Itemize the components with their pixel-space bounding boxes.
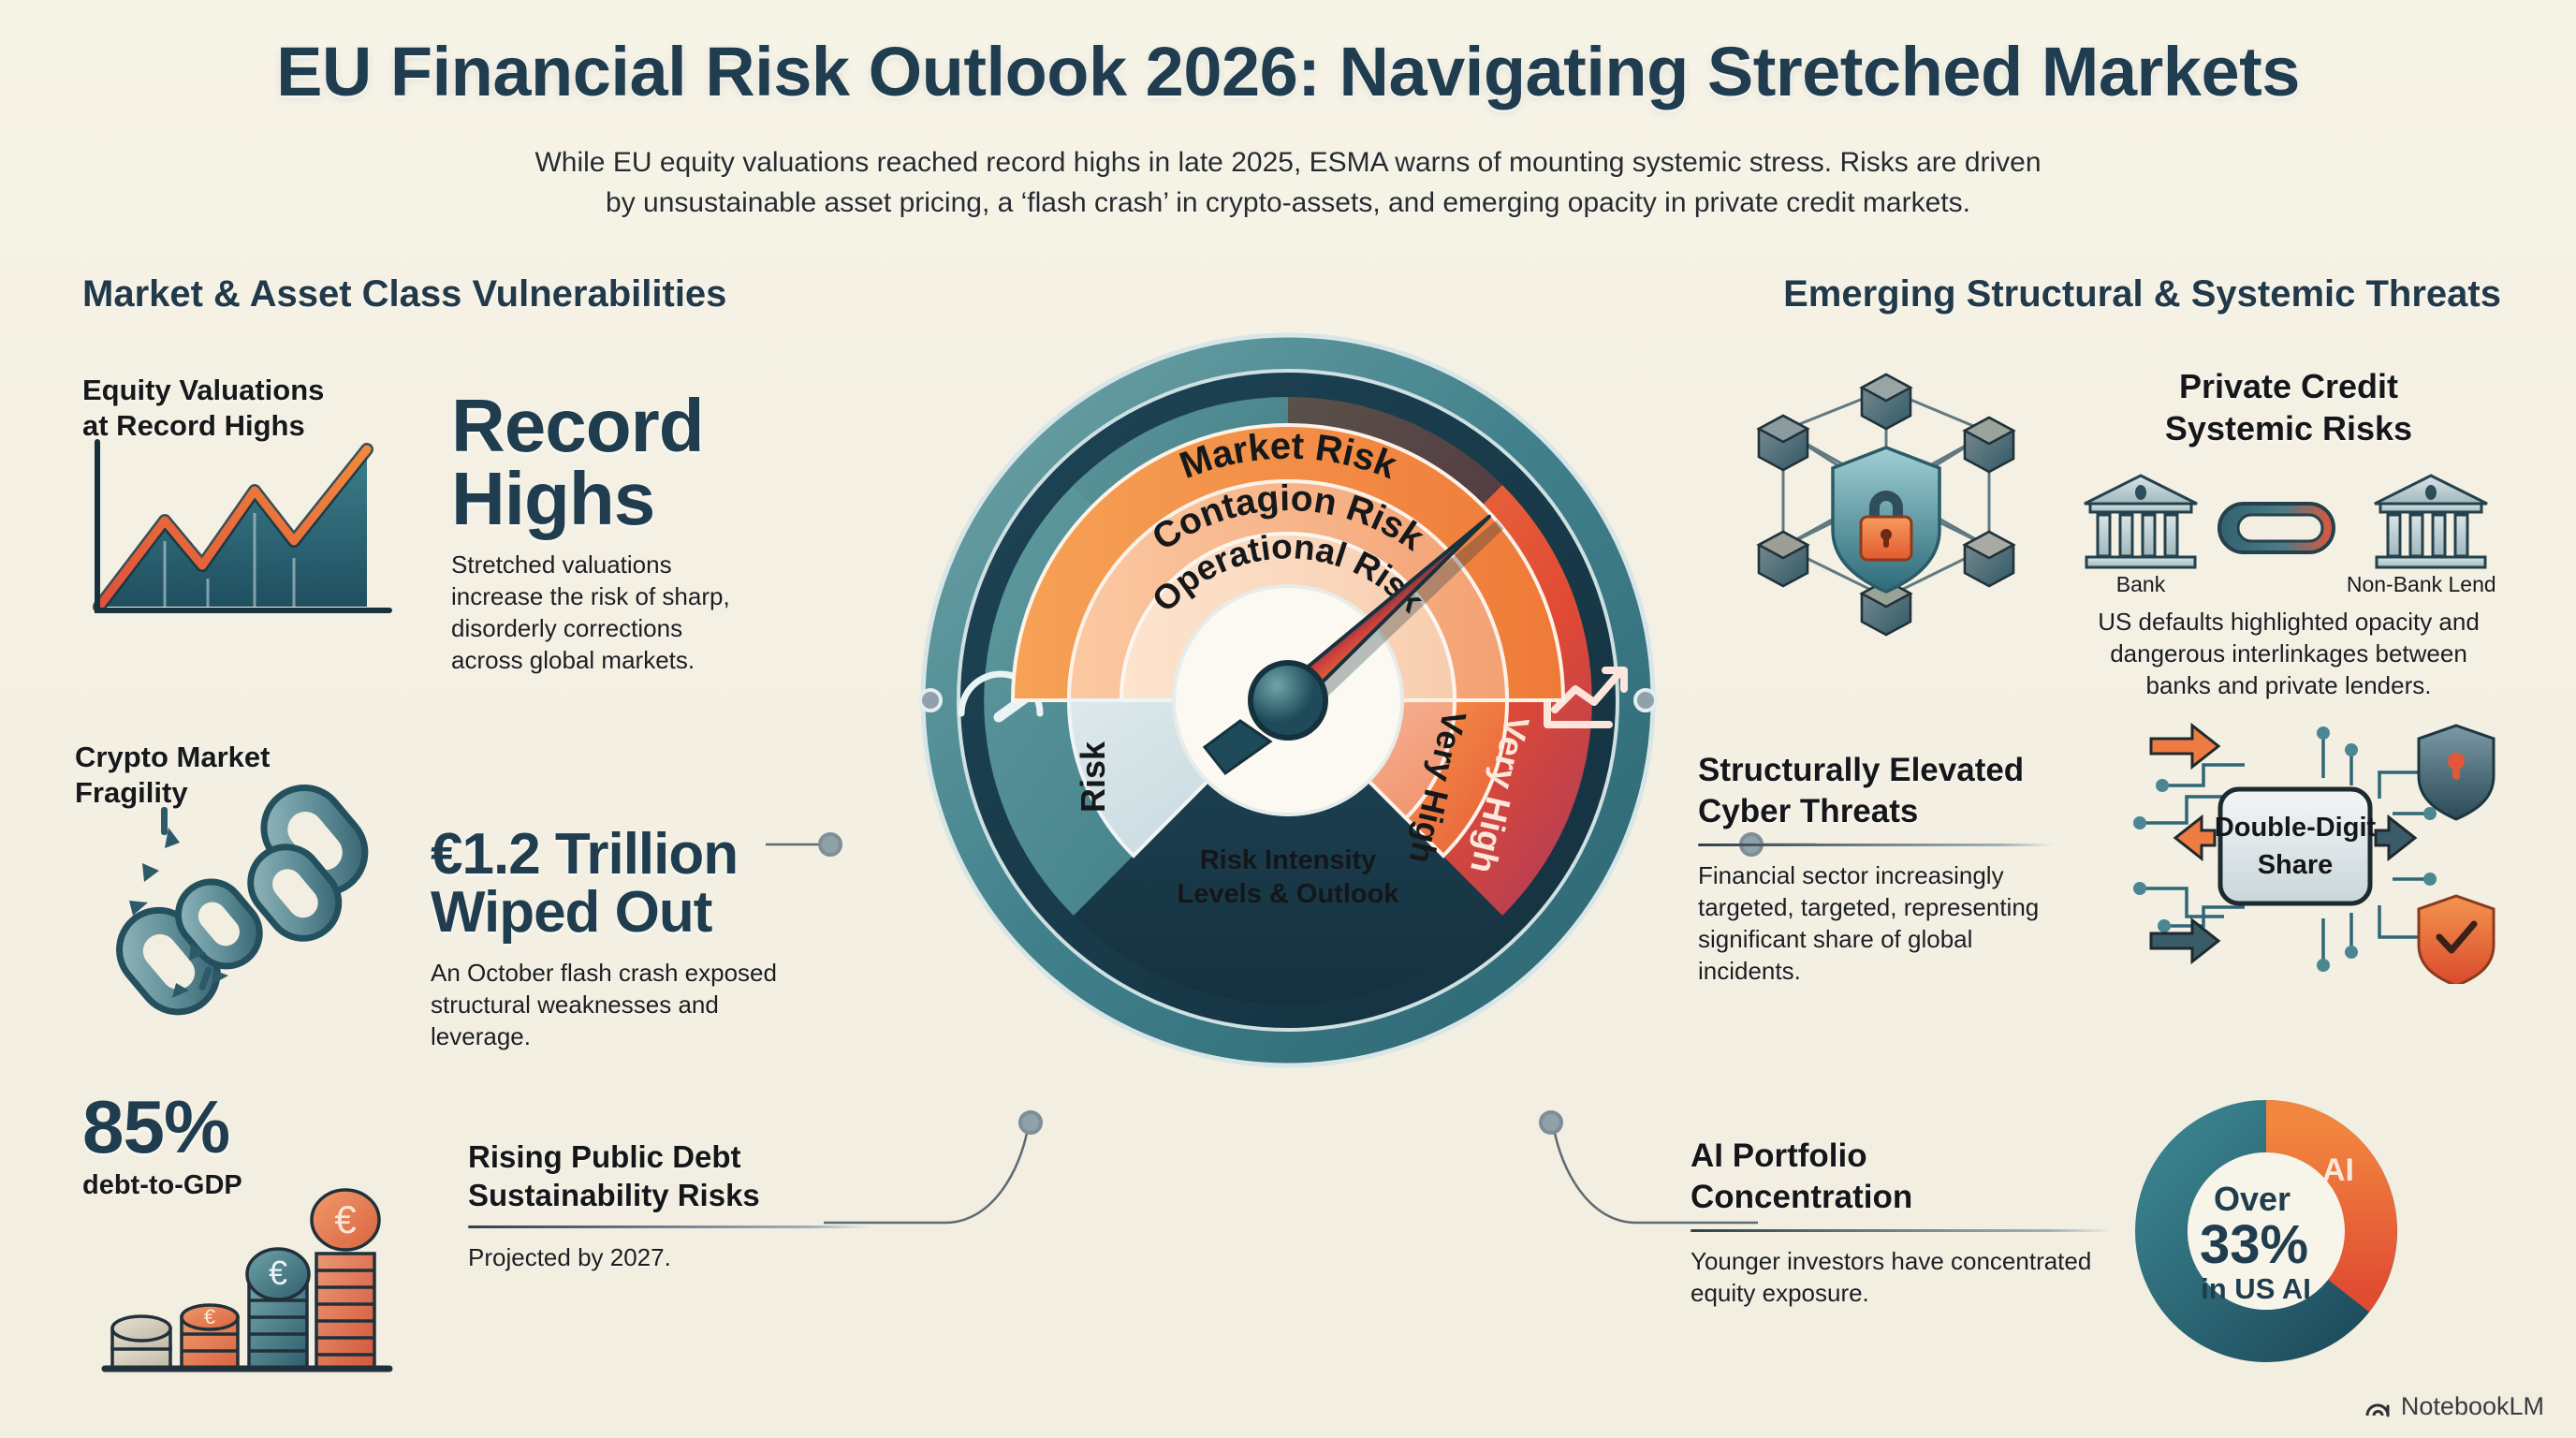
risk-gauge: Market Risk Contagion Risk Operational R… bbox=[800, 326, 1778, 1075]
svg-text:€: € bbox=[334, 1197, 356, 1241]
gauge-center-line-2: Levels & Outlook bbox=[1178, 879, 1400, 909]
ai-donut-sublabel: in US AI bbox=[2201, 1272, 2311, 1305]
block-ai-concentration: AI Portfolio Concentration Younger inves… bbox=[1690, 1109, 2514, 1372]
bank-to-nonbank-link-icon: Bank Non-Bank Lender bbox=[2083, 459, 2495, 599]
equity-stat-line-2: Highs bbox=[451, 462, 760, 536]
non-bank-lender-label: Non-Bank Lender bbox=[2347, 572, 2495, 596]
watermark-label: NotebookLM bbox=[2401, 1392, 2544, 1421]
private-credit-title-line-2: Systemic Risks bbox=[2078, 407, 2499, 449]
ai-title-line-2: Concentration bbox=[1690, 1177, 2112, 1218]
ai-blurb: Younger investors have concentrated equi… bbox=[1690, 1245, 2112, 1309]
crypto-stat-line-1: €1.2 Trillion bbox=[431, 826, 777, 884]
subtitle-line-2: by unsustainable asset pricing, a ‘flash… bbox=[305, 183, 2271, 223]
watermark: NotebookLM bbox=[2364, 1392, 2544, 1421]
private-credit-title-line-1: Private Credit bbox=[2078, 365, 2499, 407]
equity-blurb: Stretched valuations increase the risk o… bbox=[451, 549, 760, 676]
svg-text:€: € bbox=[269, 1254, 287, 1292]
ai-divider bbox=[1690, 1229, 2112, 1232]
block-private-credit: Private Credit Systemic Risks bbox=[1694, 365, 2509, 701]
debt-stat: 85% bbox=[82, 1091, 242, 1164]
block-equity-valuations: Equity Valuations at Record Highs bbox=[82, 373, 775, 676]
notebooklm-icon bbox=[2364, 1393, 2392, 1421]
block-cyber-threats: Structurally Elevated Cyber Threats Fina… bbox=[1698, 744, 2522, 987]
crypto-stat: €1.2 Trillion Wiped Out bbox=[431, 826, 777, 942]
svg-text:€: € bbox=[204, 1305, 215, 1328]
ai-segment-label: AI bbox=[2322, 1152, 2354, 1188]
donut-chart-icon: Over 33% in US AI AI bbox=[2112, 1091, 2421, 1372]
debt-title-line-2: Sustainability Risks bbox=[468, 1176, 871, 1214]
private-credit-title: Private Credit Systemic Risks bbox=[2078, 365, 2499, 449]
ai-donut-over-label: Over bbox=[2214, 1180, 2291, 1218]
debt-divider bbox=[468, 1225, 871, 1228]
debt-title: Rising Public Debt Sustainability Risks bbox=[468, 1137, 871, 1214]
debt-blurb: Projected by 2027. bbox=[468, 1241, 871, 1273]
infographic-canvas: EU Financial Risk Outlook 2026: Navigati… bbox=[0, 0, 2576, 1438]
cyber-badge-line-2: Share bbox=[2258, 850, 2334, 880]
ai-donut-value: 33% bbox=[2200, 1214, 2308, 1275]
ai-title-line-1: AI Portfolio bbox=[1690, 1136, 2112, 1177]
gauge-scale-label-risk: Risk bbox=[1074, 741, 1112, 813]
circuit-arrows-shield-icon: Double-Digit Share bbox=[2054, 712, 2512, 984]
broken-chain-icon bbox=[75, 770, 431, 1022]
crypto-stat-line-2: Wiped Out bbox=[431, 884, 777, 942]
bank-label: Bank bbox=[2116, 572, 2166, 596]
section-heading-right: Emerging Structural & Systemic Threats bbox=[1783, 273, 2501, 315]
equity-stat-line-1: Record bbox=[451, 389, 760, 462]
line-chart-rising-icon bbox=[71, 401, 446, 625]
debt-title-line-1: Rising Public Debt bbox=[468, 1137, 871, 1176]
euro-coin-stacks-icon: € € € bbox=[92, 1164, 457, 1398]
gauge-center-line-1: Risk Intensity bbox=[1200, 845, 1377, 875]
crypto-blurb: An October flash crash exposed structura… bbox=[431, 957, 777, 1052]
cyber-badge-line-1: Double-Digit bbox=[2215, 813, 2377, 843]
ai-title: AI Portfolio Concentration bbox=[1690, 1136, 2112, 1218]
section-heading-left: Market & Asset Class Vulnerabilities bbox=[82, 273, 726, 315]
page-title: EU Financial Risk Outlook 2026: Navigati… bbox=[0, 32, 2576, 111]
page-subtitle: While EU equity valuations reached recor… bbox=[305, 142, 2271, 223]
block-crypto-fragility: Crypto Market Fragility bbox=[75, 740, 824, 1052]
private-credit-blurb: US defaults highlighted opacity and dang… bbox=[2078, 606, 2499, 701]
subtitle-line-1: While EU equity valuations reached recor… bbox=[305, 142, 2271, 183]
equity-stat: Record Highs bbox=[451, 389, 760, 536]
